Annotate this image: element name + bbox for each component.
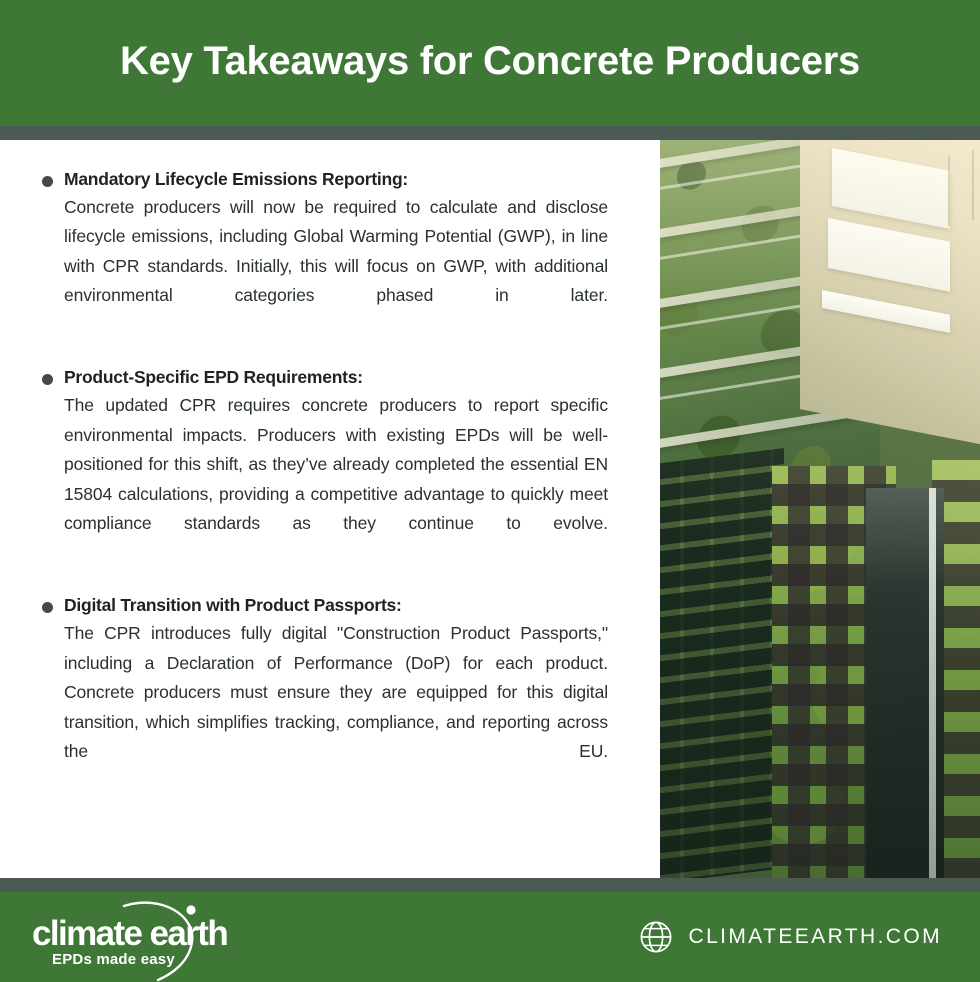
logo-wordmark: climate earth — [32, 916, 227, 951]
bullet-heading: Digital Transition with Product Passport… — [36, 594, 608, 618]
list-item: Mandatory Lifecycle Emissions Reporting:… — [36, 168, 608, 340]
website-label: CLIMATEEARTH.COM — [689, 925, 942, 949]
infographic-poster: Key Takeaways for Concrete Producers Man… — [0, 0, 980, 982]
bullet-body: Concrete producers will now be required … — [36, 193, 608, 341]
green-building-photo — [660, 140, 980, 878]
bullet-heading: Mandatory Lifecycle Emissions Reporting: — [36, 168, 608, 192]
list-item: Product-Specific EPD Requirements: The u… — [36, 366, 608, 568]
header-divider-band — [0, 126, 980, 140]
photo-light-wash — [660, 140, 980, 878]
footer-divider-band — [0, 878, 980, 892]
takeaways-panel: Mandatory Lifecycle Emissions Reporting:… — [0, 140, 660, 878]
footer-bar: climate earth ™ EPDs made easy CLIMATEEA… — [0, 892, 980, 982]
logo-tagline: EPDs made easy — [52, 951, 175, 968]
globe-icon — [639, 920, 673, 954]
header-banner: Key Takeaways for Concrete Producers — [0, 0, 980, 126]
list-item: Digital Transition with Product Passport… — [36, 594, 608, 796]
bullet-dot-icon — [42, 176, 53, 187]
brand-logo[interactable]: climate earth ™ EPDs made easy — [14, 898, 204, 978]
bullet-body: The updated CPR requires concrete produc… — [36, 391, 608, 568]
website-link[interactable]: CLIMATEEARTH.COM — [639, 892, 942, 982]
trademark-symbol: ™ — [174, 928, 182, 936]
photo-canvas — [660, 140, 980, 878]
bullet-heading: Product-Specific EPD Requirements: — [36, 366, 608, 390]
page-title: Key Takeaways for Concrete Producers — [100, 39, 880, 84]
bullet-body: The CPR introduces fully digital "Constr… — [36, 619, 608, 796]
